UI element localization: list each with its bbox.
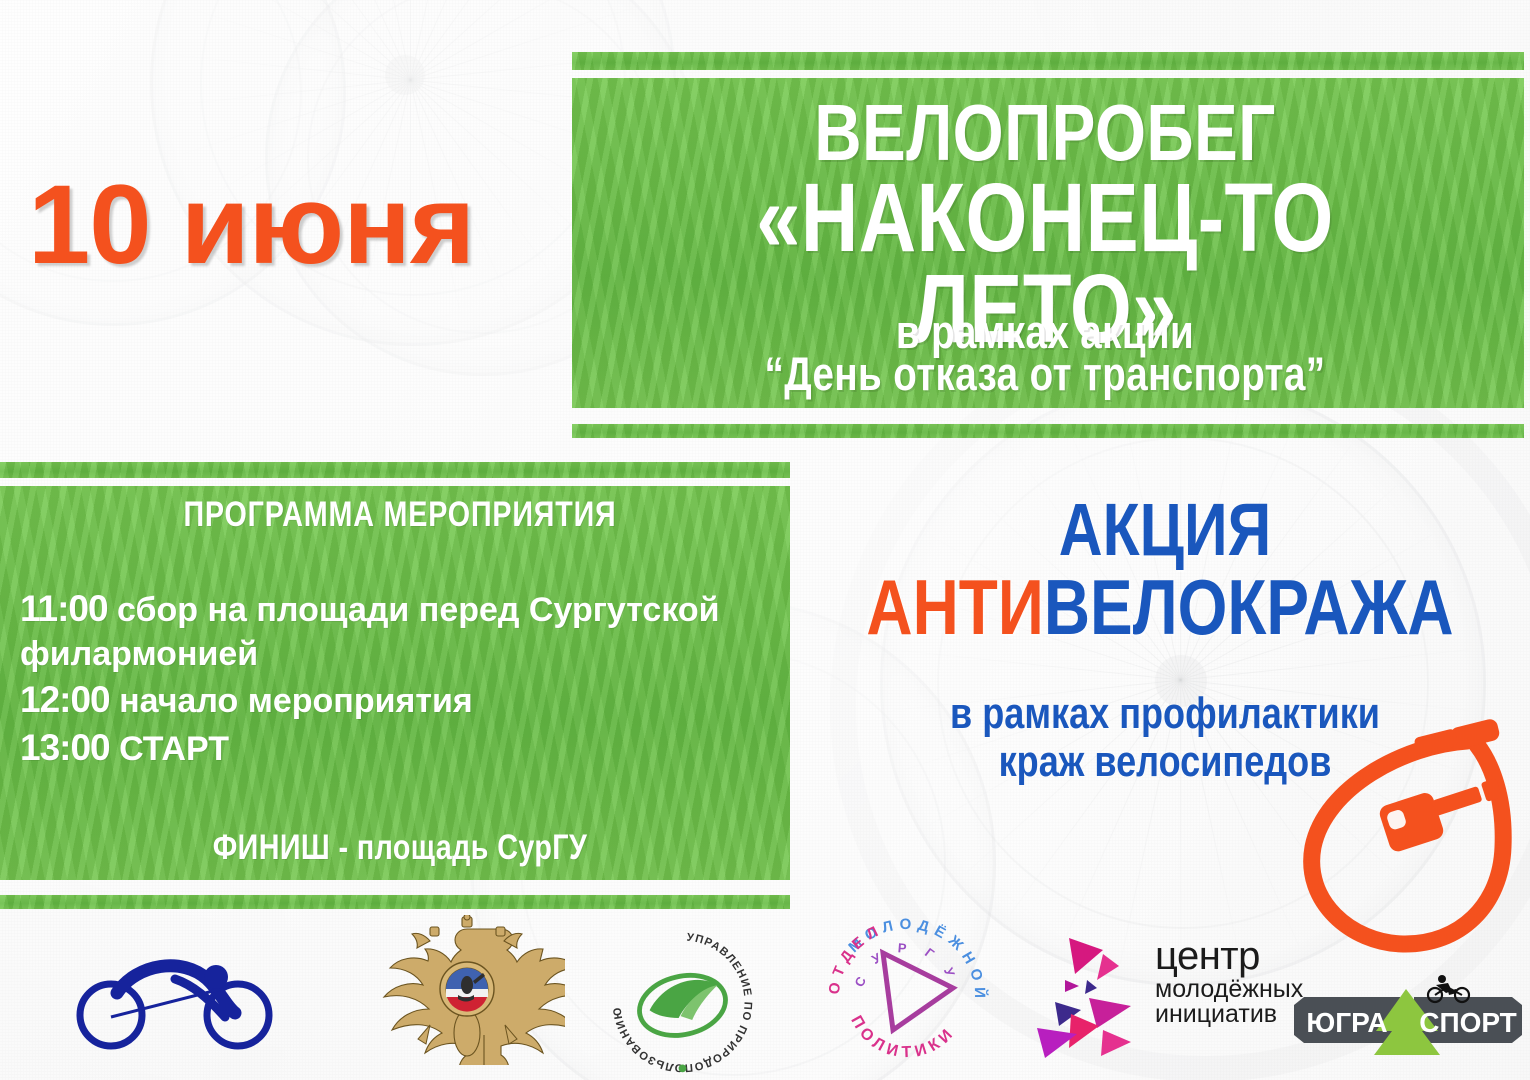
program-item-1-time: 11:00	[20, 588, 108, 629]
youth-policy-logo: МОЛОДЁЖНОЙ ОТДЕЛ ПОЛИТИКИ СУРГУТ	[825, 905, 990, 1080]
program-item-1: 11:00 сбор на площади перед Сургутской ф…	[20, 585, 790, 676]
ugra-sport-logo: ЮГРА СПОРТ	[1290, 975, 1525, 1060]
youth-initiative-center-logo: центр молодёжных инициатив	[1035, 930, 1290, 1060]
cmi-line1: центр	[1155, 936, 1303, 977]
ugra-logo-left-text: ЮГРА	[1306, 1007, 1387, 1038]
program-item-3-text: СТАРТ	[119, 730, 229, 768]
action-title: АКЦИЯ	[866, 495, 1465, 565]
program-accent-bar-bottom	[0, 895, 790, 909]
program-item-2-time: 12:00	[20, 679, 110, 720]
header-accent-bar-top	[572, 52, 1524, 70]
program-item-1-text-cont: филармонией	[20, 633, 790, 677]
event-date: 10 июня	[28, 160, 548, 289]
ugra-logo-right-text: СПОРТ	[1419, 1007, 1517, 1038]
program-item-1-text: сбор на площади перед Сургутской	[117, 591, 720, 629]
program-item-2-text: начало мероприятия	[119, 682, 473, 720]
cmi-text-block: центр молодёжных инициатив	[1155, 936, 1303, 1028]
cmi-arrow-mark	[1035, 930, 1155, 1060]
program-accent-bar-top	[0, 462, 790, 478]
eco-department-logo: УПРАВЛЕНИЕ ПО ПРИРОДОПОЛЬЗОВАНИЮ И ЭКОЛО…	[605, 925, 760, 1080]
header-accent-bar-bottom	[572, 424, 1524, 438]
cyclist-logo	[75, 955, 285, 1050]
cmi-line2: молодёжных	[1155, 977, 1303, 1003]
action-name-rest: ВЕЛОКРАЖА	[1044, 563, 1454, 651]
program-title: ПРОГРАММА МЕРОПРИЯТИЯ	[80, 495, 720, 535]
cmi-line3: инициатив	[1155, 1002, 1303, 1028]
bike-lock-icon	[1255, 715, 1530, 965]
program-finish: ФИНИШ - площадь СурГУ	[80, 828, 720, 868]
program-schedule-list: 11:00 сбор на площади перед Сургутской ф…	[20, 585, 790, 771]
action-name: АНТИВЕЛОКРАЖА	[857, 570, 1464, 644]
program-item-3-time: 13:00	[20, 727, 110, 768]
program-item-3: 13:00 СТАРТ	[20, 724, 790, 772]
event-subtitle-line2: “День отказа от транспорта”	[643, 352, 1447, 396]
action-name-prefix: АНТИ	[866, 563, 1043, 651]
poster-canvas: ВЕЛОПРОБЕГ «НАКОНЕЦ-ТО ЛЕТО» в рамках ак…	[0, 0, 1530, 1080]
event-title-line1: ВЕЛОПРОБЕГ	[656, 95, 1435, 170]
program-item-2: 12:00 начало мероприятия	[20, 676, 790, 724]
mvd-emblem-logo	[370, 915, 565, 1065]
